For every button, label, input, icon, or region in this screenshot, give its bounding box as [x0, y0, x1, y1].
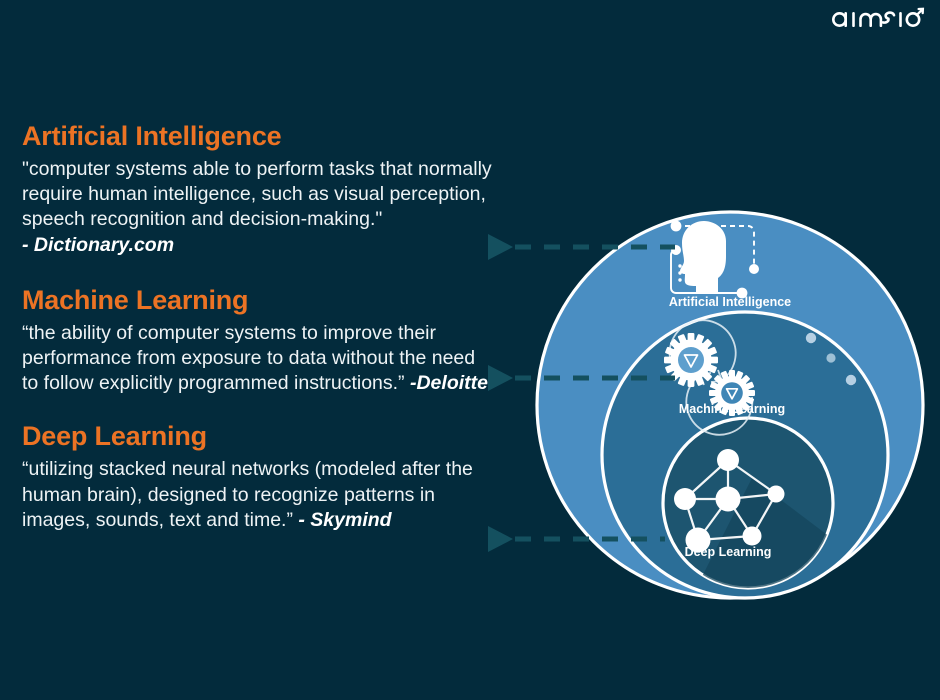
definition-body-dl: “utilizing stacked neural networks (mode…	[22, 457, 492, 532]
definitions-column: Artificial Intelligence "computer system…	[22, 122, 492, 533]
ring-label-machine-learning: Machine Learning	[679, 402, 785, 416]
nested-venn-diagram: Artificial Intelligence	[480, 190, 940, 620]
definition-title-ai: Artificial Intelligence	[22, 122, 492, 151]
definition-source-ai: - Dictionary.com	[22, 234, 174, 256]
ring-label-artificial-intelligence: Artificial Intelligence	[669, 295, 791, 309]
definition-source-dl: - Skymind	[298, 509, 391, 531]
definition-quote-ml: “the ability of computer systems to impr…	[22, 322, 475, 394]
definition-block-machine-learning: Machine Learning “the ability of compute…	[22, 286, 492, 397]
definition-quote-dl: “utilizing stacked neural networks (mode…	[22, 458, 473, 530]
definition-quote-ai: "computer systems able to perform tasks …	[22, 158, 492, 230]
definition-title-ml: Machine Learning	[22, 286, 492, 315]
definition-body-ai: "computer systems able to perform tasks …	[22, 157, 492, 258]
definition-source-ml: -Deloitte	[410, 372, 488, 394]
ring-label-deep-learning: Deep Learning	[685, 545, 772, 559]
infographic-canvas: Artificial Intelligence "computer system…	[0, 0, 940, 700]
definition-body-ml: “the ability of computer systems to impr…	[22, 321, 492, 396]
definition-block-deep-learning: Deep Learning “utilizing stacked neural …	[22, 422, 492, 533]
definition-block-artificial-intelligence: Artificial Intelligence "computer system…	[22, 122, 492, 258]
brand-logo	[830, 4, 926, 32]
definition-title-dl: Deep Learning	[22, 422, 492, 451]
gear-large	[664, 333, 718, 387]
